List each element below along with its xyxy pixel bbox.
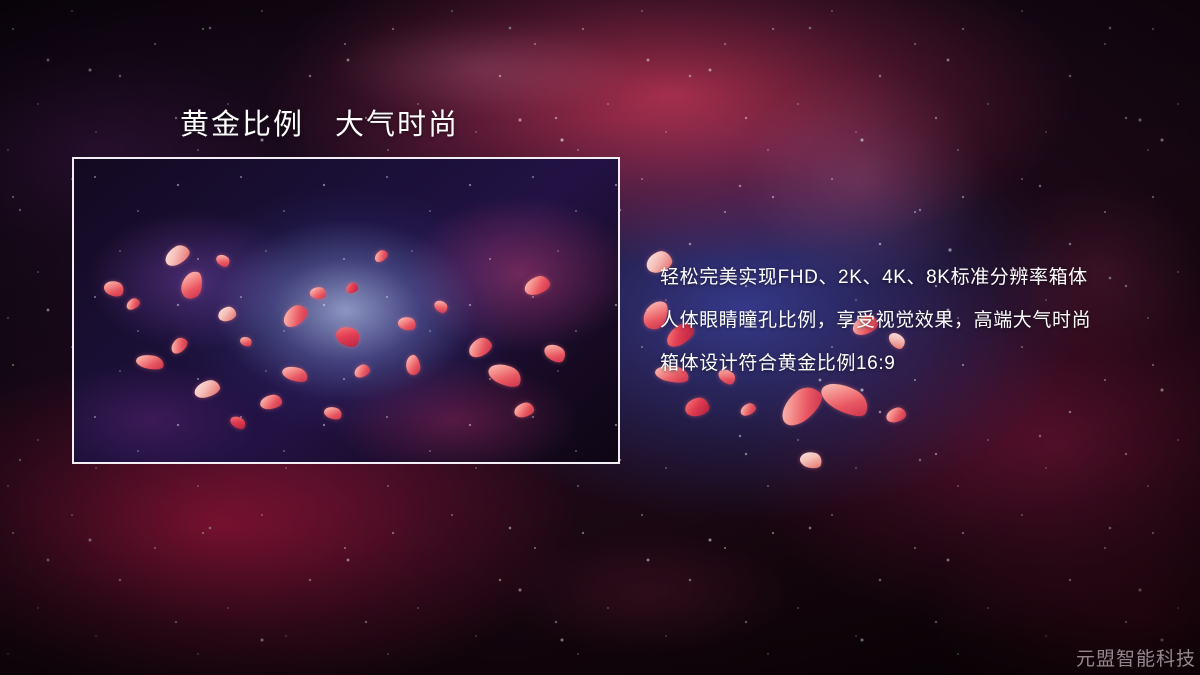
page-title: 黄金比例 大气时尚: [180, 101, 459, 143]
preview-starfield: [74, 159, 618, 462]
body-text-block: 轻松完美实现FHD、2K、4K、8K标准分辨率箱体 人体眼睛瞳孔比例，享受视觉效…: [660, 256, 1180, 385]
body-line-3: 箱体设计符合黄金比例16:9: [660, 342, 1180, 385]
watermark: 元盟智能科技: [1076, 644, 1196, 671]
framed-preview-image: [72, 157, 620, 464]
body-line-2: 人体眼睛瞳孔比例，享受视觉效果，高端大气时尚: [660, 299, 1180, 342]
presentation-slide: 黄金比例 大气时尚: [0, 0, 1200, 675]
body-line-1: 轻松完美实现FHD、2K、4K、8K标准分辨率箱体: [660, 256, 1180, 299]
